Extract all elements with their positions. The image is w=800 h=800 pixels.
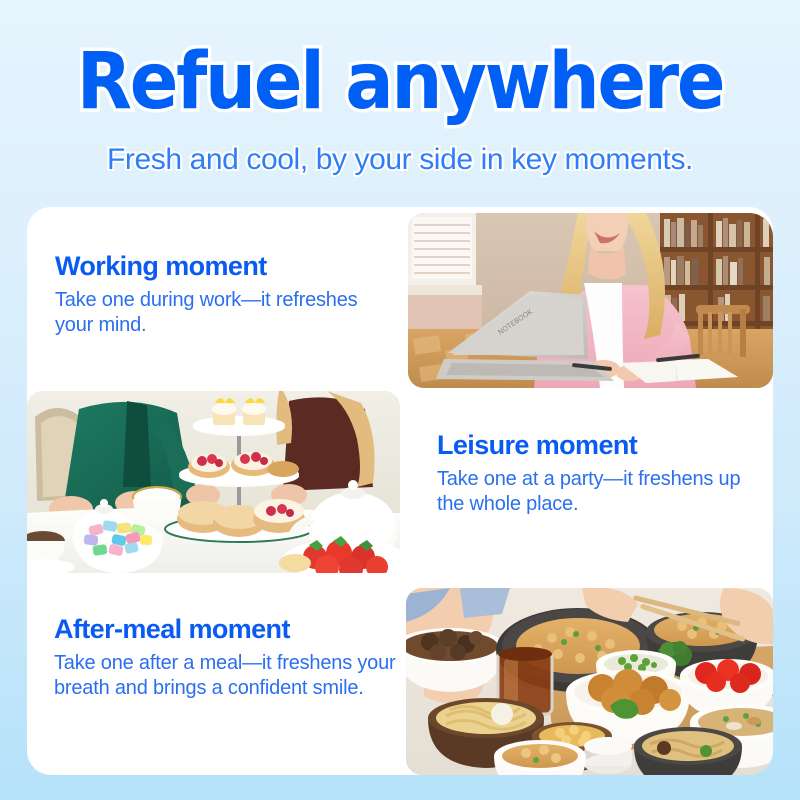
photo-leisure-moment [27,391,400,573]
block-leisure-moment: Leisure moment Take one at a party—it fr… [437,429,767,517]
poster-canvas: Refuel anywhere Fresh and cool, by your … [0,0,800,800]
body-aftermeal-moment: Take one after a meal—it freshens your b… [54,651,399,701]
block-aftermeal-moment: After-meal moment Take one after a meal—… [54,613,399,701]
photo-aftermeal-moment [406,588,773,775]
page-subtitle: Fresh and cool, by your side in key mome… [0,141,800,179]
photo-aftermeal-moment-image [406,588,773,775]
body-working-moment: Take one during work—it refreshes your m… [55,288,385,338]
photo-working-moment: NOTEBOOK [408,213,773,388]
heading-leisure-moment: Leisure moment [437,429,767,461]
photo-leisure-moment-image [27,391,400,573]
heading-working-moment: Working moment [55,250,385,282]
heading-aftermeal-moment: After-meal moment [54,613,399,645]
block-working-moment: Working moment Take one during work—it r… [55,250,385,338]
photo-working-moment-image: NOTEBOOK [408,213,773,388]
body-leisure-moment: Take one at a party—it freshens up the w… [437,467,767,517]
page-title: Refuel anywhere [32,42,768,122]
